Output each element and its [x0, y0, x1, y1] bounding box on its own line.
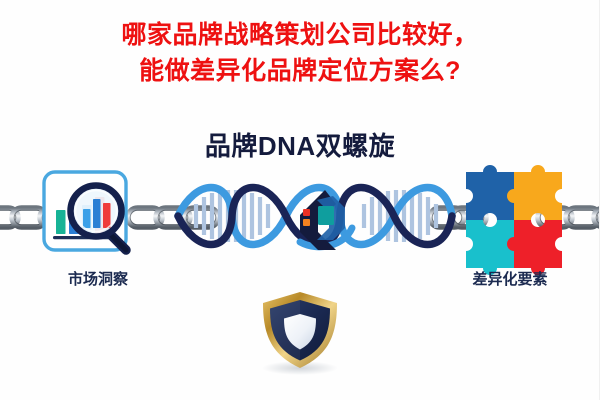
- accent-orange: [303, 219, 310, 226]
- label-market-insight: 市场洞察: [38, 268, 158, 289]
- helix-rungs-right: [364, 190, 436, 242]
- puzzle-piece-bottom-right: [507, 220, 562, 275]
- puzzle-piece-top-right: [507, 165, 562, 220]
- differentiation-puzzle-icon: [466, 165, 562, 275]
- brand-dna-infographic: 哪家品牌战略策划公司比较好， 能做差异化品牌定位方案么? 品牌DNA双螺旋: [0, 0, 600, 400]
- label-differentiation: 差异化要素: [445, 268, 575, 289]
- accent-red: [303, 209, 310, 216]
- trust-shield-icon: [262, 292, 338, 375]
- bar-1: [56, 210, 66, 234]
- infographic-scene: [0, 0, 600, 400]
- dna-helix-icon: [178, 188, 452, 251]
- market-insight-icon: [44, 172, 126, 250]
